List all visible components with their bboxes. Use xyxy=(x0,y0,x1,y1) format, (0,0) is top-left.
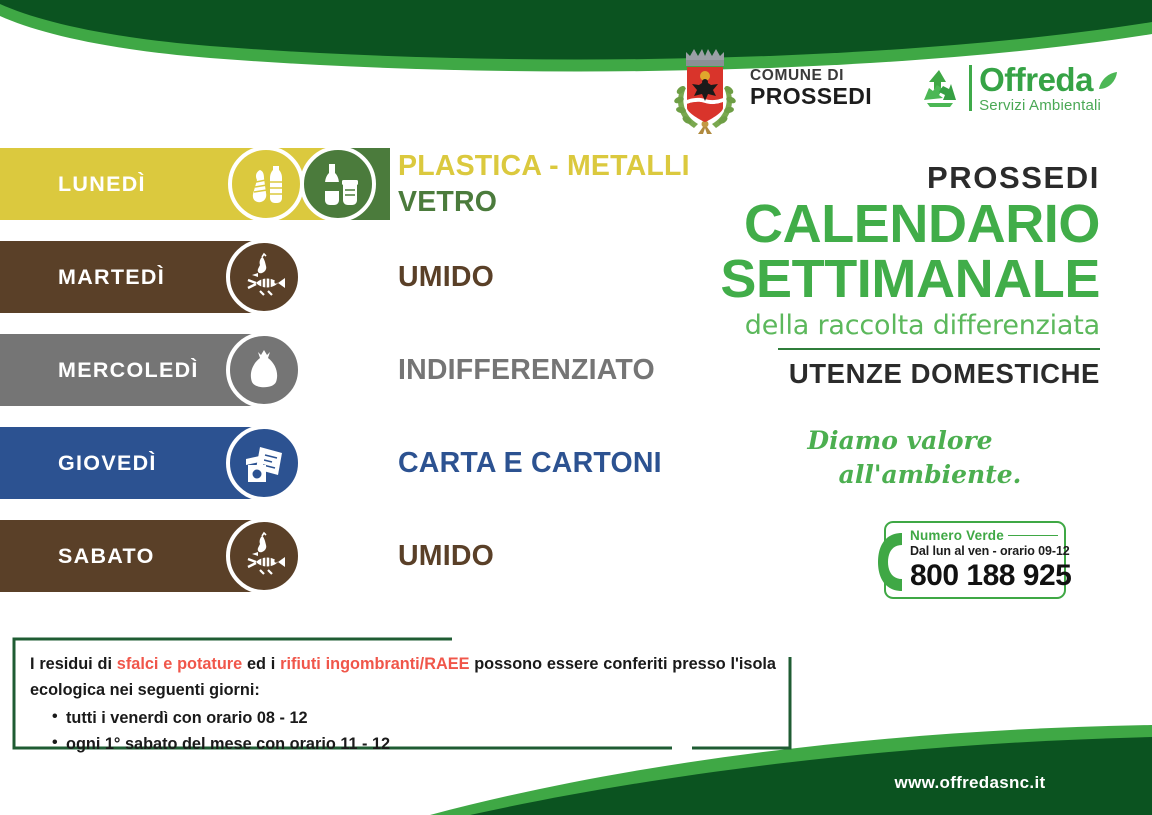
green-number-label: Numero Verde xyxy=(910,528,1004,543)
info-note-box: I residui di sfalci e potature ed i rifi… xyxy=(12,637,792,750)
note-highlight-sfalci: sfalci e potature xyxy=(117,655,242,673)
waste-type-vetro: VETRO xyxy=(398,184,690,220)
list-item: ogni 1° sabato del mese con orario 11 - … xyxy=(52,731,776,757)
brand-tagline: Diamo valore all'ambiente. xyxy=(700,424,1100,492)
green-number-rule xyxy=(1008,535,1058,537)
day-label-giovedi: CARTA E CARTONI xyxy=(398,427,662,499)
waste-bag-icon xyxy=(226,332,302,408)
waste-type-indifferenziato: INDIFFERENZIATO xyxy=(398,352,655,388)
logo-divider xyxy=(969,65,972,111)
town-title: PROSSEDI xyxy=(700,160,1100,196)
waste-type-carta-cartoni: CARTA E CARTONI xyxy=(398,445,662,481)
glass-bottle-jar-icon xyxy=(300,146,376,222)
day-row-martedi[interactable]: MARTEDÌ UMIDO xyxy=(0,241,700,334)
leaf-icon xyxy=(1097,71,1119,91)
list-item: tutti i venerdì con orario 08 - 12 xyxy=(52,705,776,731)
day-label-sabato: UMIDO xyxy=(398,520,494,592)
audience-label: UTENZE DOMESTICHE xyxy=(700,358,1100,390)
day-row-sabato[interactable]: SABATO UMIDO xyxy=(0,520,700,613)
day-row-mercoledi[interactable]: MERCOLEDÌ INDIFFERENZIATO xyxy=(0,334,700,427)
day-label-lunedi: PLASTICA - METALLI VETRO xyxy=(398,148,690,220)
comune-logo: COMUNE DI PROSSEDI xyxy=(672,38,872,138)
recycle-icon xyxy=(918,67,962,109)
day-label-mercoledi: INDIFFERENZIATO xyxy=(398,334,655,406)
calendar-title-line1: CALENDARIO xyxy=(700,198,1100,251)
note-text-a: I residui di xyxy=(30,655,117,673)
day-row-giovedi[interactable]: GIOVEDÌ CARTA E CARTONI xyxy=(0,427,700,520)
note-content: I residui di sfalci e potature ed i rifi… xyxy=(30,651,776,758)
green-number-value[interactable]: 800 188 925 xyxy=(910,559,1058,593)
coat-of-arms-icon xyxy=(672,38,738,138)
newspaper-box-icon xyxy=(226,425,302,501)
weekly-schedule-list: LUNEDÌ PLASTICA xyxy=(0,148,700,613)
note-highlight-ingombranti: rifiuti ingombranti/RAEE xyxy=(280,655,469,673)
day-name-martedi: MARTEDÌ xyxy=(58,265,165,290)
day-name-mercoledi: MERCOLEDÌ xyxy=(58,358,199,383)
plastic-bottle-can-icon xyxy=(228,146,304,222)
offreda-tagline: Servizi Ambientali xyxy=(979,98,1119,113)
comune-small-label: COMUNE DI xyxy=(750,68,872,84)
day-row-lunedi[interactable]: LUNEDÌ PLASTICA xyxy=(0,148,700,241)
tagline-line2: all'ambiente. xyxy=(700,458,1100,492)
green-number-hours: Dal lun al ven - orario 09-12 xyxy=(910,544,1058,558)
calendar-subtitle: della raccolta differenziata xyxy=(700,310,1100,341)
calendar-title-line2: SETTIMANALE xyxy=(700,253,1100,306)
footer-website-link[interactable]: www.offredasnc.it xyxy=(820,773,1120,793)
phone-handset-icon xyxy=(876,531,906,593)
header-logos: COMUNE DI PROSSEDI Offreda Servizi Ambi xyxy=(672,38,1119,138)
day-label-martedi: UMIDO xyxy=(398,241,494,313)
fish-bone-apple-core-icon xyxy=(226,239,302,315)
fish-bone-apple-core-icon xyxy=(226,518,302,594)
comune-name-label: PROSSEDI xyxy=(750,84,872,108)
poster-canvas: COMUNE DI PROSSEDI Offreda Servizi Ambi xyxy=(0,0,1152,815)
note-list: tutti i venerdì con orario 08 - 12 ogni … xyxy=(30,705,776,758)
tagline-line1: Diamo valore xyxy=(807,426,992,455)
day-name-lunedi: LUNEDÌ xyxy=(58,172,146,197)
note-text-b: ed i xyxy=(242,655,280,673)
day-name-sabato: SABATO xyxy=(58,544,155,569)
title-block: PROSSEDI CALENDARIO SETTIMANALE della ra… xyxy=(700,160,1100,390)
title-rule xyxy=(778,348,1100,351)
waste-type-umido-martedi: UMIDO xyxy=(398,259,494,295)
day-name-giovedi: GIOVEDÌ xyxy=(58,451,157,476)
green-number-box[interactable]: Numero Verde Dal lun al ven - orario 09-… xyxy=(884,521,1066,599)
offreda-name-label: Offreda xyxy=(979,63,1093,96)
offreda-logo: Offreda Servizi Ambientali xyxy=(918,63,1119,113)
waste-type-umido-sabato: UMIDO xyxy=(398,538,494,574)
waste-type-plastica-metalli: PLASTICA - METALLI xyxy=(398,148,690,184)
